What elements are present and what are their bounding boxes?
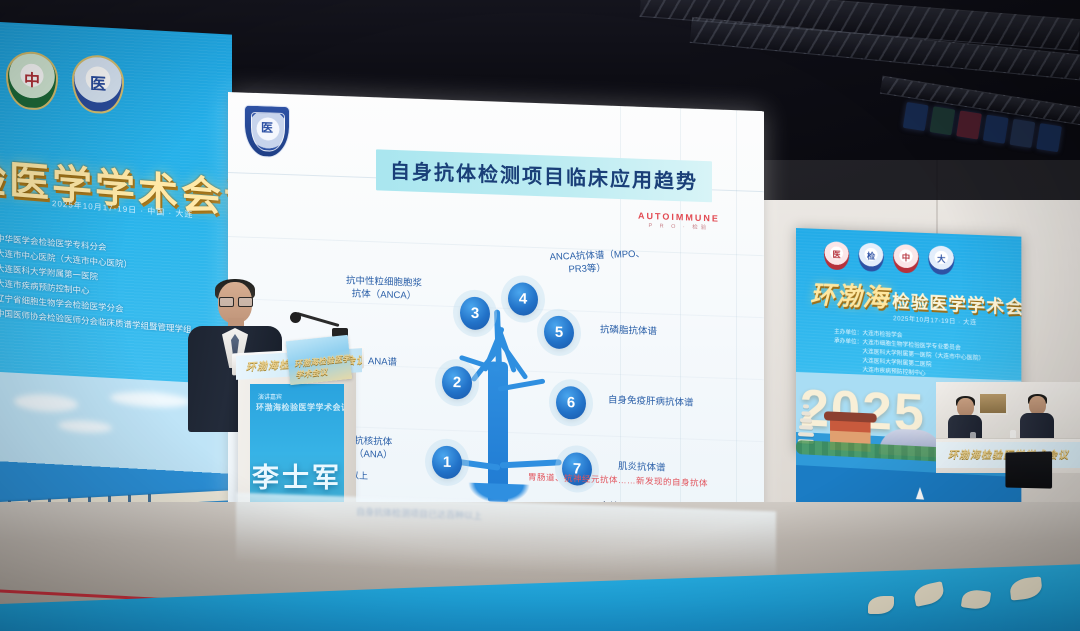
tree-label-3: 抗中性粒细胞胞浆抗体（ANCA） [346,274,422,303]
lectern-kicker: 演讲嘉宾 [258,392,282,401]
microphone-icon [290,312,301,323]
sailboat-icon [916,487,924,500]
tree-label-2: ANA谱 [368,355,397,369]
tree-node-3[interactable]: 3 [460,296,490,330]
laptop-screen [1005,451,1052,488]
emblem-icon-3: 中 [893,244,919,274]
emblem-icon-4: 大 [928,245,954,275]
tree-node-5[interactable]: 5 [544,315,574,349]
slide-university-logo-icon: 医 [244,105,290,159]
tree-node-2[interactable]: 2 [442,366,472,400]
tree-node-4[interactable]: 4 [508,282,538,316]
led-right-emblems: 医 检 中 大 [824,241,954,275]
tree-label-1: 抗核抗体（ANA） [354,435,393,462]
tree-label-5: 抗磷脂抗体谱 [600,323,657,338]
emblem-blue-icon: 医 [72,54,124,115]
tree-label-4: ANCA抗体谱（MPO、 PR3等） [549,248,646,277]
conference-stage-photo: 中 医 验医学学术会议 2025年10月17-19日 · 中国 · 大连 中华医… [0,0,1080,631]
led-left-org-lines: 中华医学会检验医学专科分会 大连市中心医院（大连市中心医院） 大连医科大学附属第… [0,231,176,336]
autoantibody-tree-diagram: 1 2 3 4 5 6 7 [424,267,574,502]
glasses-icon [219,297,251,305]
slide-watermark-logo: AUTOIMMUNE P R O · 检验 [638,211,720,232]
tree-root-branch [500,459,562,468]
tree-node-1[interactable]: 1 [432,445,462,479]
slide-title: 自身抗体检测项目临床应用趋势 [376,149,712,202]
panelist-2 [1020,396,1054,442]
wall-picture-frame [978,392,1008,415]
emblem-icon-2: 检 [858,243,884,272]
tree-label-7: 肌炎抗体谱 [618,460,666,475]
led-left-emblems: 中 医 [6,50,124,114]
presentation-folder: 环渤海检验医学学术会议 [286,335,352,385]
emblem-icon-1: 医 [824,241,849,270]
emblem-green-icon: 中 [6,50,58,111]
tree-trunk [488,361,508,502]
lectern-conf-name: 环渤海检验医学学术会议 [256,402,344,413]
tree-node-6[interactable]: 6 [556,386,586,420]
speaker-name-display: 李士军 [250,456,344,495]
